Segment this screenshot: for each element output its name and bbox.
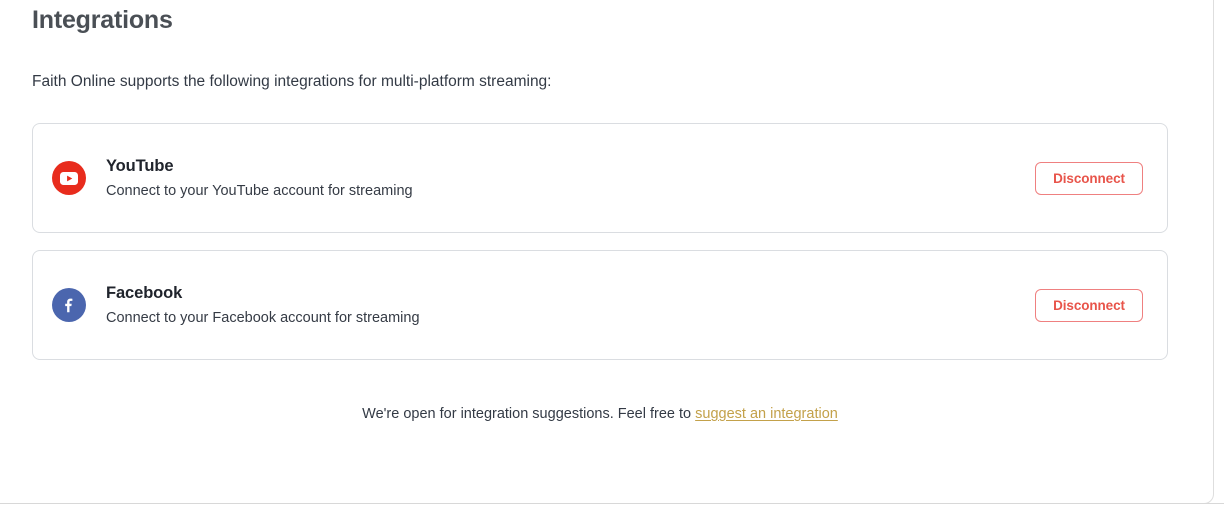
- integration-description: Connect to your Facebook account for str…: [106, 308, 1035, 329]
- integration-card-youtube: YouTube Connect to your YouTube account …: [32, 123, 1168, 233]
- integration-name: Facebook: [106, 282, 1035, 304]
- integrations-content: Integrations Faith Online supports the f…: [32, 1, 1188, 425]
- integration-description: Connect to your YouTube account for stre…: [106, 181, 1035, 202]
- integration-name: YouTube: [106, 155, 1035, 177]
- integrations-list: YouTube Connect to your YouTube account …: [32, 123, 1188, 360]
- disconnect-button-facebook[interactable]: Disconnect: [1035, 289, 1143, 322]
- integration-info: Facebook Connect to your Facebook accoun…: [106, 282, 1035, 329]
- integration-info: YouTube Connect to your YouTube account …: [106, 155, 1035, 202]
- page-subtitle: Faith Online supports the following inte…: [32, 71, 1188, 93]
- integration-suggestion-note: We're open for integration suggestions. …: [32, 404, 1168, 425]
- integration-card-facebook: Facebook Connect to your Facebook accoun…: [32, 250, 1168, 360]
- suggest-an-integration-link[interactable]: suggest an integration: [695, 406, 838, 422]
- bottom-divider: [0, 503, 1224, 504]
- facebook-icon: [52, 288, 86, 322]
- suggestion-text: We're open for integration suggestions. …: [362, 406, 691, 422]
- page-title: Integrations: [32, 3, 1188, 37]
- page-panel: Integrations Faith Online supports the f…: [0, 0, 1214, 504]
- disconnect-button-youtube[interactable]: Disconnect: [1035, 162, 1143, 195]
- youtube-icon: [52, 161, 86, 195]
